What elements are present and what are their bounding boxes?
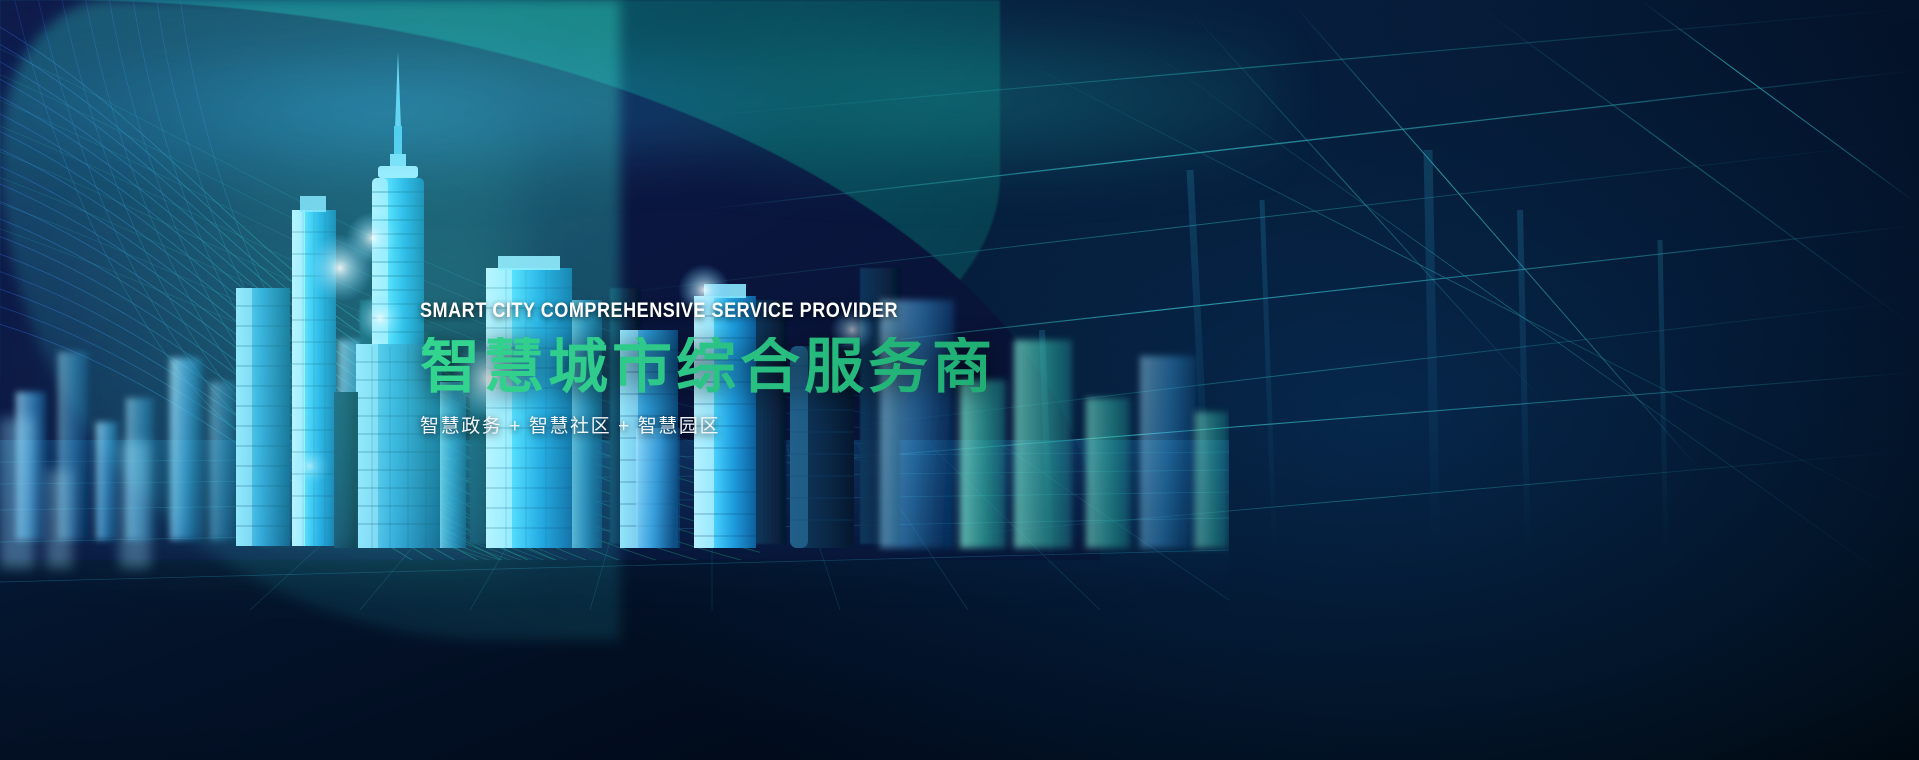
ground-reflection-glow xyxy=(0,0,1279,200)
hero-eyebrow-text: SMART CITY COMPREHENSIVE SERVICE PROVIDE… xyxy=(420,300,1074,321)
right-green-glow xyxy=(0,0,520,560)
hero-headline-text: 智慧城市综合服务商 xyxy=(420,337,1180,397)
hero-subline-text: 智慧政务 + 智慧社区 + 智慧园区 xyxy=(420,417,1180,436)
hero-copy-block: SMART CITY COMPREHENSIVE SERVICE PROVIDE… xyxy=(420,300,1180,436)
wireframe-wave-mesh-icon xyxy=(0,0,760,560)
smart-city-hero-banner: SMART CITY COMPREHENSIVE SERVICE PROVIDE… xyxy=(0,0,1919,760)
lower-left-navy-mass xyxy=(0,0,1100,560)
